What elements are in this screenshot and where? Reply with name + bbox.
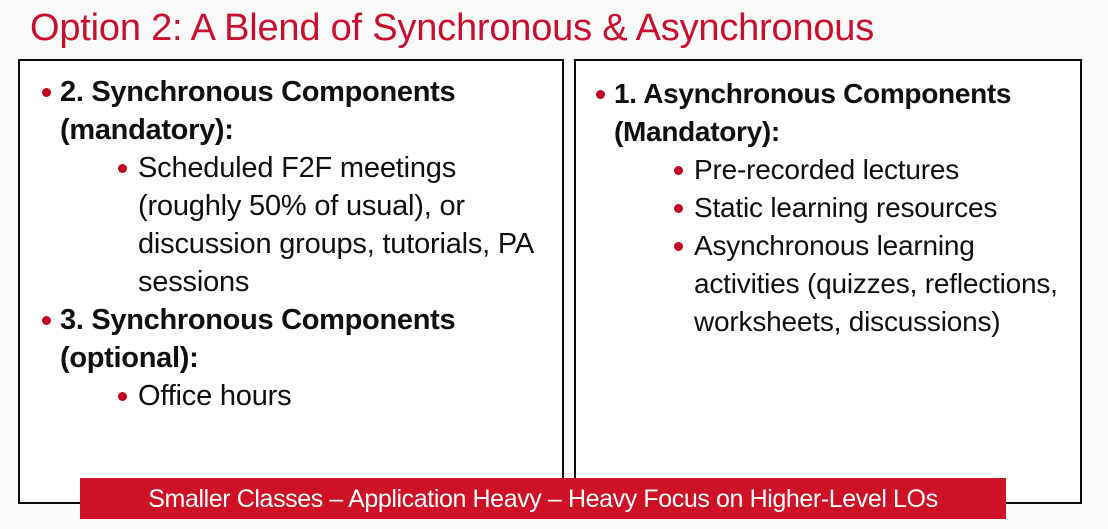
list-item: 1. Asynchronous Components (Mandatory): … [586, 75, 1072, 341]
list-item: Office hours [108, 377, 556, 415]
bullet-marker-icon [118, 392, 127, 401]
bullet-text: 2. Synchronous Components (mandatory): [60, 73, 556, 149]
bullet-marker-icon [674, 242, 683, 251]
list-item: Asynchronous learning activities (quizze… [664, 227, 1072, 341]
bullet-text: Scheduled F2F meetings (roughly 50% of u… [138, 149, 556, 301]
bullet-text: Pre-recorded lectures [694, 151, 1072, 189]
left-box-inner: 2. Synchronous Components (mandatory): S… [20, 61, 562, 502]
bullet-marker-icon [42, 316, 51, 325]
bullet-marker-icon [674, 204, 683, 213]
bullet-marker-icon [674, 166, 683, 175]
right-bullet-list: 1. Asynchronous Components (Mandatory): … [586, 75, 1072, 341]
summary-banner: Smaller Classes – Application Heavy – He… [80, 478, 1006, 519]
list-item: Pre-recorded lectures [664, 151, 1072, 189]
right-content-box: 1. Asynchronous Components (Mandatory): … [574, 59, 1082, 504]
sub-bullet-list: Pre-recorded lectures Static learning re… [614, 151, 1072, 341]
sub-bullet-list: Scheduled F2F meetings (roughly 50% of u… [60, 149, 556, 301]
slide-canvas: Option 2: A Blend of Synchronous & Async… [0, 0, 1108, 529]
bullet-text: 1. Asynchronous Components (Mandatory): [614, 75, 1072, 151]
list-item: Scheduled F2F meetings (roughly 50% of u… [108, 149, 556, 301]
bullet-text: Static learning resources [694, 189, 1072, 227]
bullet-text: Office hours [138, 377, 556, 415]
page-title: Option 2: A Blend of Synchronous & Async… [30, 3, 1080, 55]
right-box-inner: 1. Asynchronous Components (Mandatory): … [576, 61, 1080, 502]
left-content-box: 2. Synchronous Components (mandatory): S… [18, 59, 564, 504]
list-item: 3. Synchronous Components (optional): Of… [32, 301, 556, 415]
summary-banner-text: Smaller Classes – Application Heavy – He… [148, 484, 937, 514]
bullet-text: 3. Synchronous Components (optional): [60, 301, 556, 377]
bullet-marker-icon [118, 164, 127, 173]
list-item: 2. Synchronous Components (mandatory): S… [32, 73, 556, 301]
sub-bullet-list: Office hours [60, 377, 556, 415]
bullet-text: Asynchronous learning activities (quizze… [694, 227, 1072, 341]
list-item: Static learning resources [664, 189, 1072, 227]
bullet-marker-icon [596, 90, 605, 99]
left-bullet-list: 2. Synchronous Components (mandatory): S… [32, 73, 556, 415]
bullet-marker-icon [42, 88, 51, 97]
